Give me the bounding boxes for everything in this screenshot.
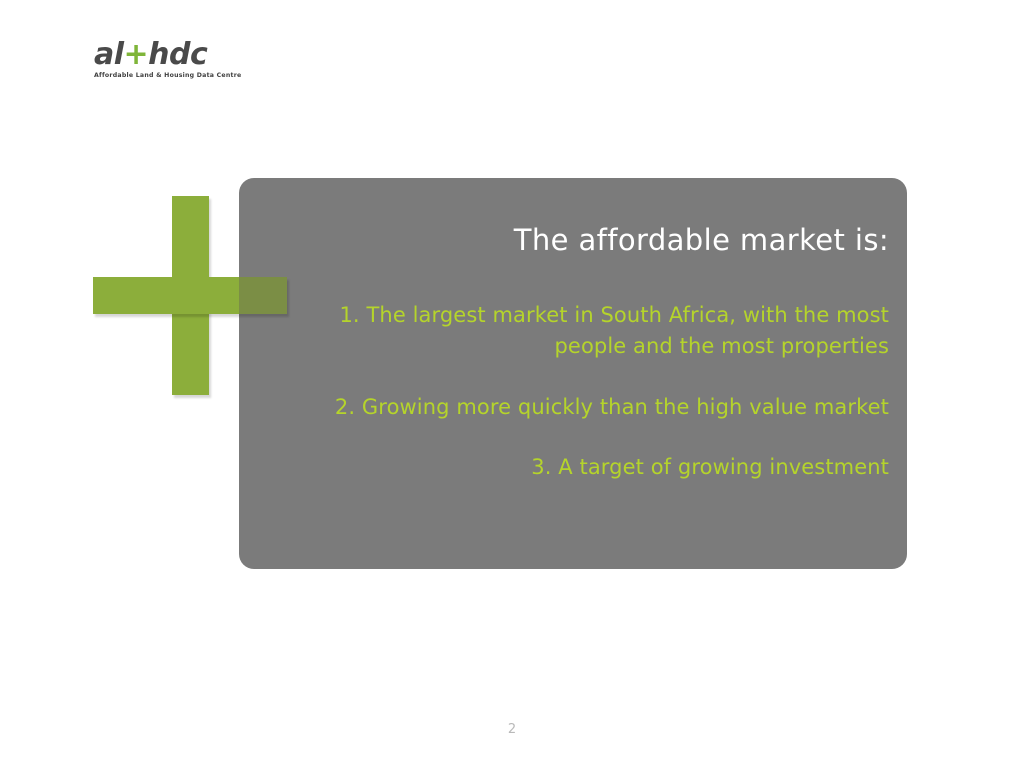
panel-text-block: The affordable market is: 1. The largest… xyxy=(299,222,889,483)
logo-tagline: Affordable Land & Housing Data Centre xyxy=(94,72,274,80)
list-item: 2. Growing more quickly than the high va… xyxy=(299,392,889,423)
logo: al+hdc Affordable Land & Housing Data Ce… xyxy=(94,40,274,88)
list-item: 1. The largest market in South Africa, w… xyxy=(299,300,889,362)
logo-wordmark: al+hdc xyxy=(94,40,274,70)
bullet-list: 1. The largest market in South Africa, w… xyxy=(299,300,889,483)
plus-shape-panel-overlap xyxy=(239,277,287,314)
logo-wordmark-suffix: hdc xyxy=(148,37,207,72)
page-number: 2 xyxy=(0,722,1024,737)
plus-shape-decoration xyxy=(93,196,289,396)
logo-wordmark-prefix: al xyxy=(94,37,124,72)
logo-plus-icon: + xyxy=(124,37,149,72)
panel-heading: The affordable market is: xyxy=(299,222,889,258)
list-item: 3. A target of growing investment xyxy=(299,452,889,483)
slide-canvas: al+hdc Affordable Land & Housing Data Ce… xyxy=(0,0,1024,768)
